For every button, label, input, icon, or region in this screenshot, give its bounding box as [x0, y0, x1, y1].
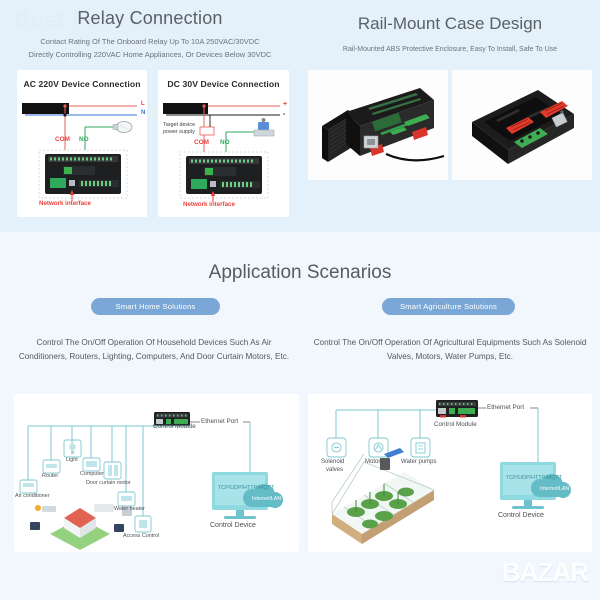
smart-home-description: Control The On/Off Operation Of Househol… [12, 336, 296, 364]
top-section: Best For Home Relay Connection Contact R… [0, 0, 600, 232]
smart-agriculture-diagram: Control Module Ethernet Port Control Dev… [308, 394, 592, 552]
relay-connection-subtitle: Contact Rating Of The Onboard Relay Up T… [10, 36, 290, 61]
dc-terminal-com: COM [194, 139, 209, 146]
home-ethernet-port-label: Ethernet Port [201, 418, 238, 425]
agri-control-device-label: Control Device [498, 512, 544, 519]
agri-ethernet-port-label: Ethernet Port [487, 404, 524, 411]
dc-terminal-no: NO [220, 139, 230, 146]
smart-agriculture-description: Control The On/Off Operation Of Agricult… [308, 336, 592, 364]
relay-subtitle-line2: Directly Controlling 220VAC Home Applian… [10, 49, 290, 62]
product-photo-front [308, 70, 448, 180]
watermark-bazar: BAZAR [502, 557, 588, 588]
pill-smart-home[interactable]: Smart Home Solutions [91, 298, 220, 315]
relay-module-rail-clip-photo [452, 70, 592, 180]
agri-cloud-label: Internet/LAN [540, 486, 569, 492]
dc-target-note-line2: power supply [163, 129, 195, 135]
ac-terminal-com: COM [55, 136, 70, 143]
home-node-label-door-curtain-motor: Door curtain motor [86, 480, 131, 486]
relay-module-front-photo [308, 70, 448, 180]
ac-wiring-diagram [17, 70, 147, 217]
home-node-label-computer: Computer [80, 471, 104, 477]
home-node-label-light: Light [66, 457, 78, 463]
agri-node-label-motors: Motors [365, 459, 383, 465]
ac-line-label-n: N [141, 110, 145, 116]
rail-mount-title: Rail-Mount Case Design [300, 14, 600, 34]
dc-connection-card: DC 30V Device Connection [158, 70, 289, 217]
home-module-label: Control Module [153, 423, 196, 430]
dc-line-label-plus: + [283, 101, 287, 108]
application-scenarios-section: Application Scenarios Smart Home Solutio… [0, 232, 600, 600]
home-node-label-router: Router [42, 473, 58, 479]
ac-line-label-l: L [141, 101, 145, 107]
relay-connection-title: Relay Connection [0, 8, 300, 29]
home-monitor-protocols: TCP/UDP/HTTP/MQTT [218, 485, 274, 491]
product-photo-rail-clip [452, 70, 592, 180]
dc-power-label: Power DC 30V [211, 100, 249, 106]
dc-network-interface-label: Network interface [183, 201, 235, 208]
agri-monitor-protocols: TCP/UDP/HTTP/MQTT [506, 475, 562, 481]
ac-network-interface-label: Network interface [39, 200, 91, 207]
home-control-device-label: Control Device [210, 522, 256, 529]
agri-module-label: Control Module [434, 421, 477, 428]
dc-target-note-line1: Target device [163, 122, 195, 128]
ac-terminal-no: NO [79, 136, 89, 143]
agri-node-label-solenoid-line1: Solenoid [321, 459, 344, 465]
ac-connection-card: AC 220V Device Connection [17, 70, 147, 217]
application-scenarios-title: Application Scenarios [0, 262, 600, 284]
dc-line-label-minus: - [283, 111, 285, 118]
pill-smart-agriculture[interactable]: Smart Agriculture Solutions [382, 298, 515, 315]
agri-node-label-solenoid-line2: valves [326, 467, 343, 473]
product-infographic-page: Best For Home Relay Connection Contact R… [0, 0, 600, 600]
home-cloud-label: Internet/LAN [252, 496, 281, 502]
relay-subtitle-line1: Contact Rating Of The Onboard Relay Up T… [10, 36, 290, 49]
home-node-label-air-conditioner: Air conditioner [15, 493, 49, 499]
home-node-label-water-heater: Water heater [114, 506, 145, 512]
smart-home-diagram: Control Module Ethernet Port Control Dev… [14, 394, 299, 552]
smart-agriculture-topology [308, 394, 592, 552]
home-node-label-access-control: Access Control [123, 533, 159, 539]
rail-mount-subtitle: Rail-Mounted ABS Protective Enclosure, E… [310, 44, 590, 56]
agri-node-label-water-pumps: Water pumps [401, 459, 436, 465]
ac-power-label: Power AC 220V [71, 100, 112, 106]
